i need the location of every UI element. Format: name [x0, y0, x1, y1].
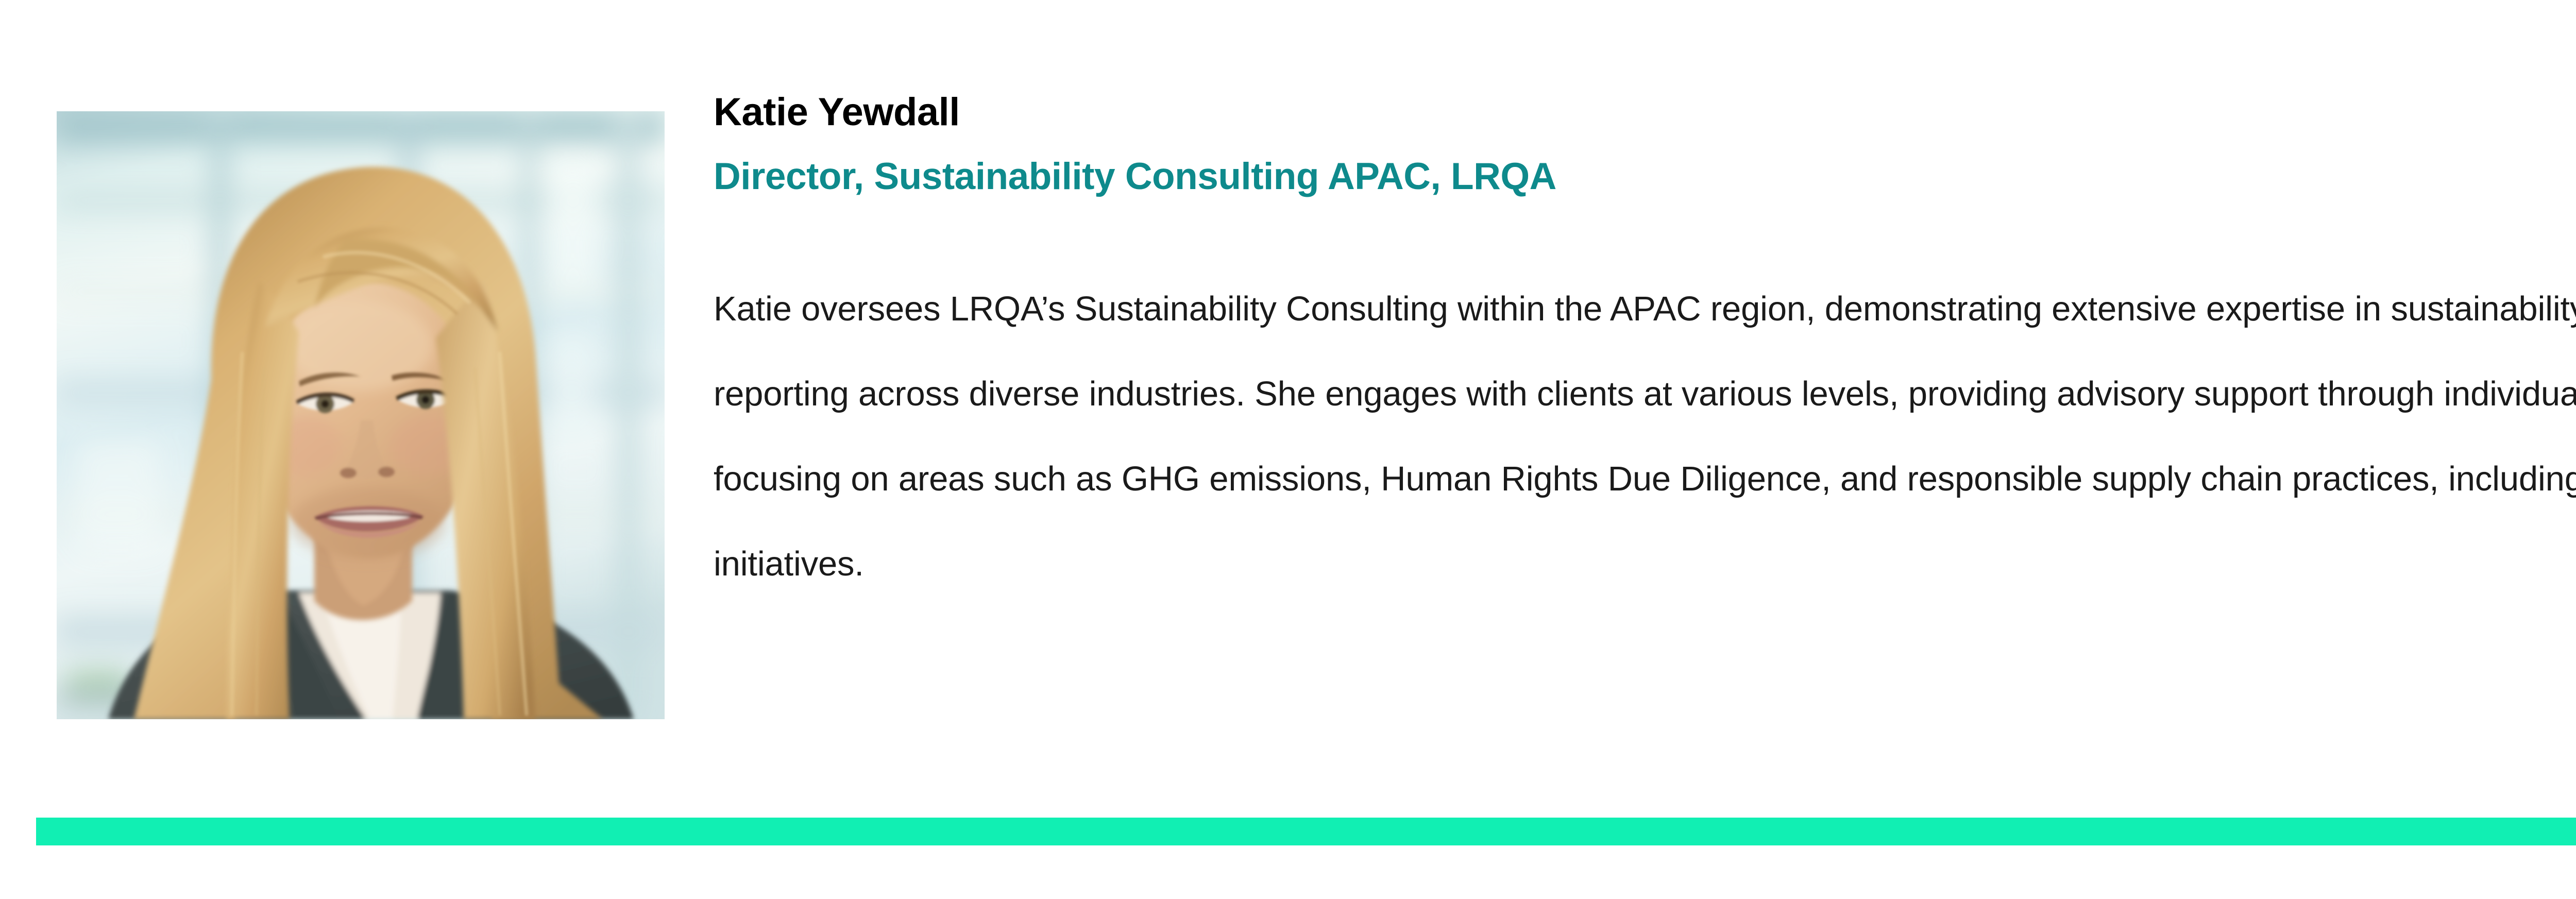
speaker-text-column: Katie Yewdall Director, Sustainability C… — [714, 77, 2576, 606]
teal-accent-divider-bar — [36, 818, 2576, 845]
speaker-role-title: Director, Sustainability Consulting APAC… — [714, 132, 2576, 195]
speaker-portrait-photo — [57, 111, 665, 719]
speaker-biography-paragraph: Katie oversees LRQA’s Sustainability Con… — [714, 195, 2576, 606]
speaker-name: Katie Yewdall — [714, 77, 2576, 132]
portrait-illustration — [57, 111, 665, 719]
speaker-bio-card: Katie Yewdall Director, Sustainability C… — [0, 0, 2576, 899]
